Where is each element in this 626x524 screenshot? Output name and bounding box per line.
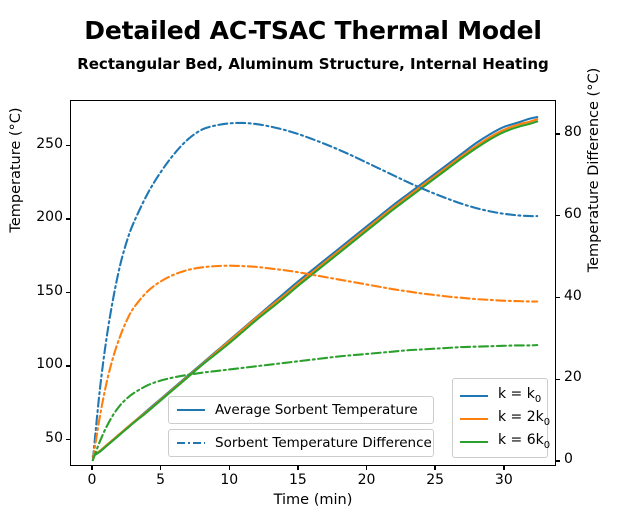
figure-canvas: Detailed AC-TSAC Thermal Model Rectangul… xyxy=(0,0,626,524)
x-tick-label: 5 xyxy=(131,472,191,488)
legend-label-solid: Average Sorbent Temperature xyxy=(215,402,418,418)
y-tick-label-right: 80 xyxy=(564,124,626,140)
x-tick xyxy=(503,466,504,470)
y-tick-label-left: 150 xyxy=(0,283,63,299)
legend-item-series-1[interactable]: k = 2k0 xyxy=(459,407,541,430)
legend-item-series-0[interactable]: k = k0 xyxy=(459,384,541,407)
y-tick-right xyxy=(556,215,560,216)
x-axis-label: Time (min) xyxy=(0,492,626,508)
y-tick-label-left: 200 xyxy=(0,209,63,225)
legend-temperature-difference[interactable]: Sorbent Temperature Difference xyxy=(168,429,434,457)
y-tick-right xyxy=(556,297,560,298)
y-tick-label-left: 50 xyxy=(0,430,63,446)
y-tick-right xyxy=(556,133,560,134)
chart-title: Detailed AC-TSAC Thermal Model xyxy=(0,16,626,45)
legend-label-series-0: k = k0 xyxy=(498,386,541,405)
x-tick-label: 10 xyxy=(199,472,259,488)
x-tick xyxy=(366,466,367,470)
legend-row-dashdot: Sorbent Temperature Difference xyxy=(169,430,433,456)
legend-conductivity-series[interactable]: k = k0k = 2k0k = 6k0 xyxy=(452,378,548,458)
x-tick xyxy=(229,466,230,470)
line-solid-icon xyxy=(176,403,206,417)
legend-item-series-2[interactable]: k = 6k0 xyxy=(459,430,541,453)
x-tick-label: 15 xyxy=(268,472,328,488)
x-tick-label: 30 xyxy=(474,472,534,488)
y-tick-label-left: 250 xyxy=(0,136,63,152)
x-tick-label: 20 xyxy=(337,472,397,488)
legend-label-series-1: k = 2k0 xyxy=(498,409,550,428)
legend-row-solid: Average Sorbent Temperature xyxy=(169,397,433,423)
y-tick-label-right: 60 xyxy=(564,206,626,222)
line-solid-icon xyxy=(459,389,489,403)
x-tick-label: 25 xyxy=(405,472,465,488)
legend-average-temperature[interactable]: Average Sorbent Temperature xyxy=(168,396,434,424)
legend-label-series-2: k = 6k0 xyxy=(498,432,550,451)
y-tick-right xyxy=(556,460,560,461)
x-tick xyxy=(297,466,298,470)
x-tick-label: 0 xyxy=(62,472,122,488)
legend-label-dashdot: Sorbent Temperature Difference xyxy=(215,435,432,451)
y-tick-label-right: 40 xyxy=(564,288,626,304)
y-axis-label-left: Temperature (°C) xyxy=(8,0,24,360)
y-tick-right xyxy=(556,379,560,380)
line-solid-icon xyxy=(459,412,489,426)
x-tick xyxy=(434,466,435,470)
y-tick-label-right: 20 xyxy=(564,369,626,385)
line-solid-icon xyxy=(459,435,489,449)
chart-subtitle: Rectangular Bed, Aluminum Structure, Int… xyxy=(0,55,626,73)
y-axis-label-right: Temperature Difference (°C) xyxy=(586,0,602,360)
y-tick-label-left: 100 xyxy=(0,356,63,372)
x-tick xyxy=(91,466,92,470)
y-tick-label-right: 0 xyxy=(564,451,626,467)
line-dashdot-icon xyxy=(176,436,206,450)
x-tick xyxy=(160,466,161,470)
